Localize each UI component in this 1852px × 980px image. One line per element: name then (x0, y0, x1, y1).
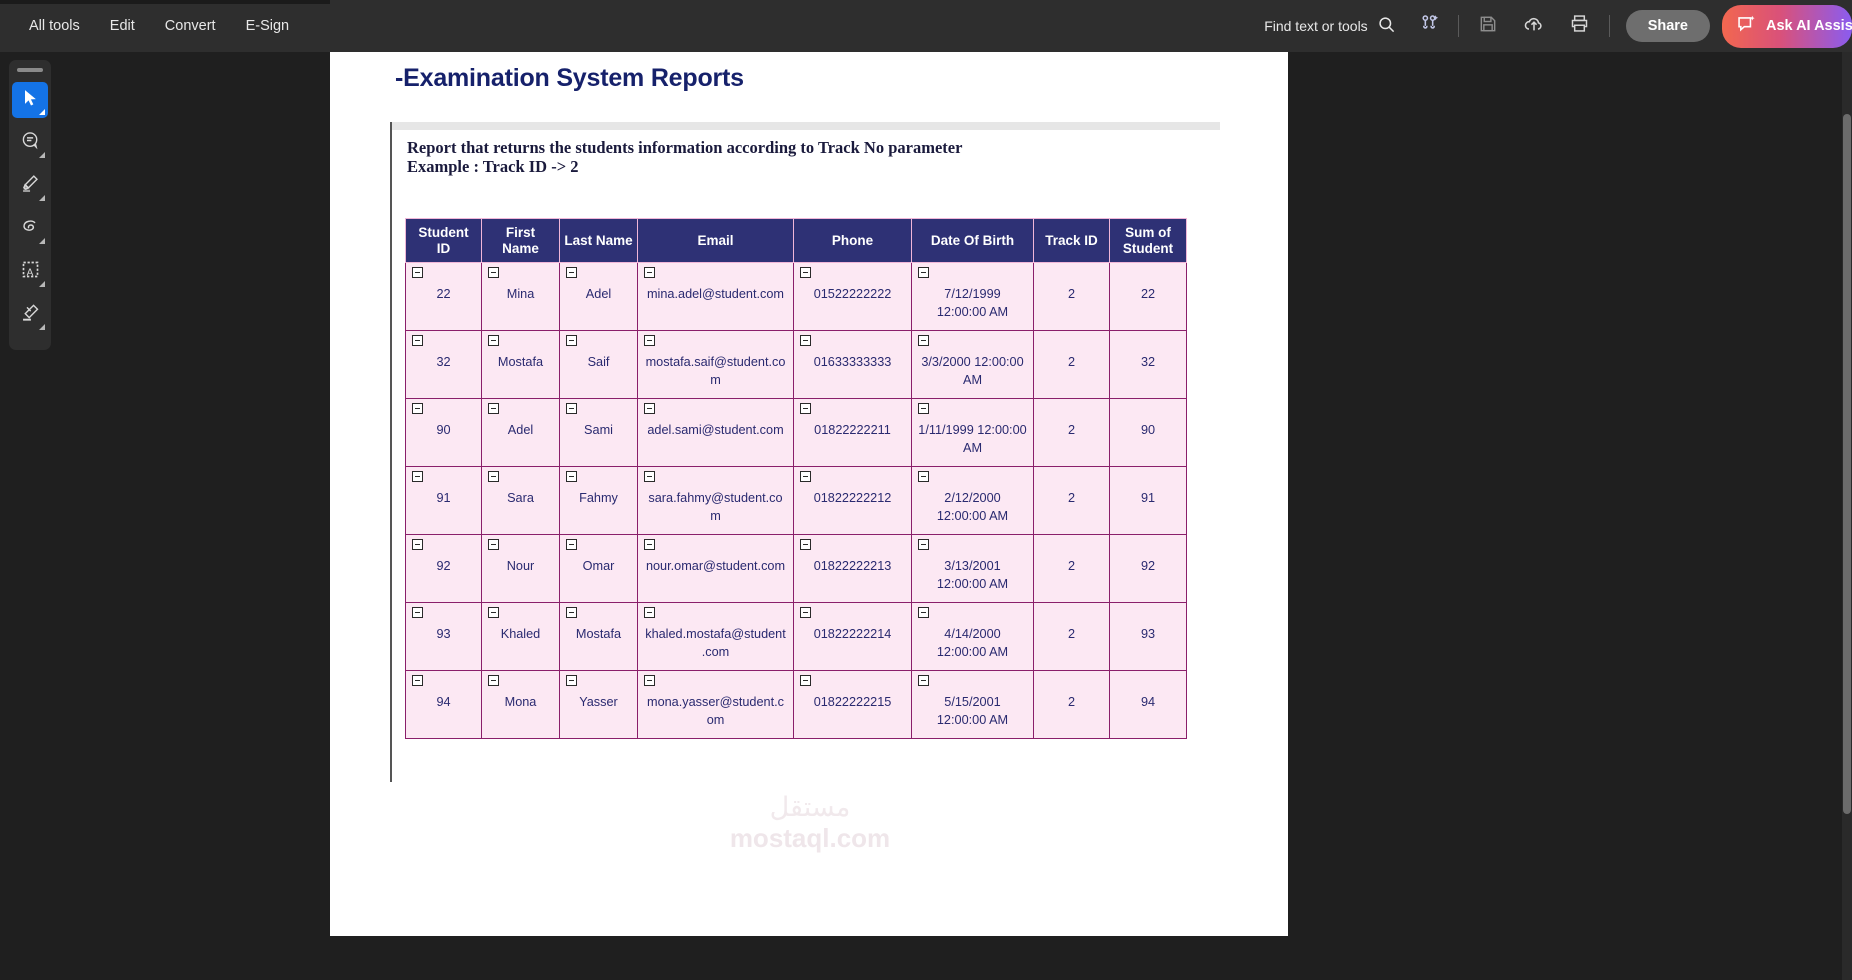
cell-value: 2 (1040, 354, 1103, 372)
comment-tool-expand-icon (39, 152, 45, 158)
collapse-toggle-icon[interactable] (644, 403, 655, 414)
cell-value: 01522222222 (800, 286, 905, 304)
title-dash: - (395, 64, 403, 92)
collapse-toggle-icon[interactable] (644, 267, 655, 278)
left-panel: A (0, 52, 330, 980)
collapse-toggle-icon[interactable] (412, 471, 423, 482)
cell-value: mina.adel@student.com (644, 286, 787, 304)
collapse-toggle-icon[interactable] (800, 539, 811, 550)
collapse-toggle-icon[interactable] (800, 607, 811, 618)
cell-value: Sami (566, 422, 631, 440)
collapse-toggle-icon[interactable] (412, 403, 423, 414)
erase-tool[interactable] (12, 297, 48, 333)
collapse-toggle-icon[interactable] (488, 403, 499, 414)
collapse-toggle-icon[interactable] (566, 675, 577, 686)
cell-value: Khaled (488, 626, 553, 644)
cell-spacer (1040, 539, 1103, 550)
collapse-toggle-icon[interactable] (566, 267, 577, 278)
cell-student-id: 90 (406, 399, 482, 467)
cell-spacer (1116, 675, 1180, 686)
cell-value: 01822222215 (800, 694, 905, 712)
upload-button[interactable] (1511, 6, 1557, 46)
cell-value: 90 (1116, 422, 1180, 440)
save-icon (1478, 14, 1498, 39)
cell-phone: 01822222214 (794, 603, 912, 671)
report-top-band (390, 122, 1220, 130)
cell-value: adel.sami@student.com (644, 422, 787, 440)
window-notch (0, 0, 330, 4)
cell-student-id: 93 (406, 603, 482, 671)
highlight-tool-expand-icon (39, 195, 45, 201)
collapse-toggle-icon[interactable] (412, 675, 423, 686)
cell-value: 2 (1040, 422, 1103, 440)
collapse-toggle-icon[interactable] (566, 471, 577, 482)
toolbar-actions: Find text or tools (1254, 0, 1852, 52)
cell-sum-of-student: 90 (1110, 399, 1187, 467)
document-viewport[interactable]: -Examination System Reports Report that … (330, 52, 1852, 980)
watermark-arabic: مستقل (660, 794, 960, 821)
find-label: Find text or tools (1264, 18, 1368, 34)
cell-value: Mostafa (488, 354, 553, 372)
cell-value: mostafa.saif@student.com (644, 354, 787, 389)
cell-track-id: 2 (1034, 331, 1110, 399)
collapse-toggle-icon[interactable] (918, 471, 929, 482)
collapse-toggle-icon[interactable] (918, 539, 929, 550)
cell-last-name: Mostafa (560, 603, 638, 671)
cell-track-id: 2 (1034, 603, 1110, 671)
cell-last-name: Adel (560, 263, 638, 331)
cell-first-name: Sara (482, 467, 560, 535)
cell-phone: 01822222213 (794, 535, 912, 603)
cell-first-name: Mona (482, 671, 560, 739)
cell-date-of-birth: 2/12/2000 12:00:00 AM (912, 467, 1034, 535)
print-button[interactable] (1557, 6, 1603, 46)
cell-sum-of-student: 22 (1110, 263, 1187, 331)
cell-student-id: 94 (406, 671, 482, 739)
collapse-toggle-icon[interactable] (488, 335, 499, 346)
cell-value: 2 (1040, 490, 1103, 508)
collapse-toggle-icon[interactable] (488, 607, 499, 618)
cell-last-name: Sami (560, 399, 638, 467)
cell-value: 01822222214 (800, 626, 905, 644)
collapse-toggle-icon[interactable] (488, 675, 499, 686)
cell-student-id: 92 (406, 535, 482, 603)
cell-date-of-birth: 4/14/2000 12:00:00 AM (912, 603, 1034, 671)
find-tools-button[interactable]: Find text or tools (1254, 9, 1406, 43)
collapse-toggle-icon[interactable] (644, 471, 655, 482)
cell-date-of-birth: 7/12/1999 12:00:00 AM (912, 263, 1034, 331)
menu-edit[interactable]: Edit (95, 12, 150, 40)
cell-value: 32 (1116, 354, 1180, 372)
cell-value: khaled.mostafa@student.com (644, 626, 787, 661)
cell-value: 2 (1040, 626, 1103, 644)
collapse-toggle-icon[interactable] (566, 335, 577, 346)
cell-value: 92 (1116, 558, 1180, 576)
collapse-toggle-icon[interactable] (918, 675, 929, 686)
cell-value: 3/3/2000 12:00:00 AM (918, 354, 1027, 389)
main-menu: All tools Edit Convert E-Sign (0, 12, 304, 40)
cell-value: 22 (1116, 286, 1180, 304)
column-header-track-id: Track ID (1034, 219, 1110, 263)
cell-sum-of-student: 94 (1110, 671, 1187, 739)
cell-first-name: Nour (482, 535, 560, 603)
collapse-toggle-icon[interactable] (566, 607, 577, 618)
table-body: 22MinaAdelmina.adel@student.com015222222… (406, 263, 1187, 739)
cell-sum-of-student: 93 (1110, 603, 1187, 671)
collapse-toggle-icon[interactable] (800, 675, 811, 686)
erase-tool-expand-icon (39, 324, 45, 330)
accessibility-button[interactable] (1406, 6, 1452, 46)
cell-value: 2 (1040, 558, 1103, 576)
cell-last-name: Saif (560, 331, 638, 399)
svg-text:A: A (27, 268, 34, 279)
text-box-tool-expand-icon (39, 281, 45, 287)
cell-value: 01822222211 (800, 422, 905, 440)
cell-email: adel.sami@student.com (638, 399, 794, 467)
cell-value: Sara (488, 490, 553, 508)
cell-phone: 01822222215 (794, 671, 912, 739)
cell-first-name: Khaled (482, 603, 560, 671)
upload-cloud-icon (1523, 13, 1545, 40)
collapse-toggle-icon[interactable] (412, 335, 423, 346)
cell-value: 94 (1116, 694, 1180, 712)
highlighter-pen-icon (20, 173, 41, 199)
column-header-last-name: Last Name (560, 219, 638, 263)
collapse-toggle-icon[interactable] (918, 607, 929, 618)
table-row: 90AdelSamiadel.sami@student.com018222222… (406, 399, 1187, 467)
column-header-email: Email (638, 219, 794, 263)
cell-value: 2 (1040, 286, 1103, 304)
annotation-toolstrip: A (9, 60, 51, 350)
title-text: Examination System Reports (403, 64, 744, 92)
cell-value: 5/15/2001 12:00:00 AM (918, 694, 1027, 729)
cell-sum-of-student: 92 (1110, 535, 1187, 603)
cell-value: Yasser (566, 694, 631, 712)
cell-value: 1/11/1999 12:00:00 AM (918, 422, 1027, 457)
comment-bubble-icon (20, 130, 41, 156)
toolbar-divider-1 (1458, 15, 1459, 37)
app-toolbar: All tools Edit Convert E-Sign Find text … (0, 0, 1852, 52)
cell-email: sara.fahmy@student.com (638, 467, 794, 535)
cell-spacer (1040, 267, 1103, 278)
cell-date-of-birth: 1/11/1999 12:00:00 AM (912, 399, 1034, 467)
save-button[interactable] (1465, 6, 1511, 46)
cell-spacer (1040, 335, 1103, 346)
cell-value: 91 (1116, 490, 1180, 508)
cell-value: sara.fahmy@student.com (644, 490, 787, 525)
print-icon (1569, 13, 1590, 39)
cell-email: nour.omar@student.com (638, 535, 794, 603)
freehand-loop-icon (19, 216, 41, 243)
collapse-toggle-icon[interactable] (800, 267, 811, 278)
cell-email: mina.adel@student.com (638, 263, 794, 331)
cell-phone: 01522222222 (794, 263, 912, 331)
table-row: 94MonaYassermona.yasser@student.com01822… (406, 671, 1187, 739)
menu-all-tools[interactable]: All tools (14, 12, 95, 40)
cell-spacer (1116, 471, 1180, 482)
cell-track-id: 2 (1034, 467, 1110, 535)
cell-date-of-birth: 5/15/2001 12:00:00 AM (912, 671, 1034, 739)
accessibility-icon (1418, 13, 1440, 40)
draw-tool-expand-icon (39, 238, 45, 244)
column-header-phone: Phone (794, 219, 912, 263)
cell-email: mona.yasser@student.com (638, 671, 794, 739)
cell-value: Mina (488, 286, 553, 304)
collapse-toggle-icon[interactable] (644, 335, 655, 346)
cell-value: 92 (412, 558, 475, 576)
cell-value: 2 (1040, 694, 1103, 712)
collapse-toggle-icon[interactable] (644, 675, 655, 686)
cell-email: mostafa.saif@student.com (638, 331, 794, 399)
cell-value: 2/12/2000 12:00:00 AM (918, 490, 1027, 525)
ai-sparkle-icon (1736, 14, 1757, 39)
draw-tool[interactable] (12, 211, 48, 247)
select-tool[interactable] (12, 82, 48, 118)
cell-value: 22 (412, 286, 475, 304)
column-header-first-name: First Name (482, 219, 560, 263)
menu-esign[interactable]: E-Sign (231, 12, 305, 40)
column-header-student-id: Student ID (406, 219, 482, 263)
cell-value: Saif (566, 354, 631, 372)
cell-spacer (1116, 607, 1180, 618)
students-report-table: Student ID First Name Last Name Email Ph… (405, 218, 1187, 739)
cell-value: 01822222212 (800, 490, 905, 508)
collapse-toggle-icon[interactable] (918, 403, 929, 414)
cell-value: Fahmy (566, 490, 631, 508)
collapse-toggle-icon[interactable] (918, 335, 929, 346)
collapse-toggle-icon[interactable] (412, 607, 423, 618)
cell-track-id: 2 (1034, 263, 1110, 331)
select-tool-expand-icon (39, 109, 45, 115)
cell-spacer (1040, 675, 1103, 686)
cell-track-id: 2 (1034, 399, 1110, 467)
collapse-toggle-icon[interactable] (800, 403, 811, 414)
cell-spacer (1116, 403, 1180, 414)
cell-value: 93 (412, 626, 475, 644)
collapse-toggle-icon[interactable] (488, 471, 499, 482)
cell-value: 01633333333 (800, 354, 905, 372)
cell-last-name: Fahmy (560, 467, 638, 535)
cell-date-of-birth: 3/13/2001 12:00:00 AM (912, 535, 1034, 603)
collapse-toggle-icon[interactable] (800, 471, 811, 482)
cell-spacer (1040, 607, 1103, 618)
cell-spacer (1116, 335, 1180, 346)
report-description-line2: Example : Track ID -> 2 (407, 157, 962, 176)
cell-first-name: Mostafa (482, 331, 560, 399)
table-row: 32MostafaSaifmostafa.saif@student.com016… (406, 331, 1187, 399)
cell-phone: 01822222212 (794, 467, 912, 535)
cell-value: 32 (412, 354, 475, 372)
report-left-rule (390, 122, 392, 782)
cell-value: mona.yasser@student.com (644, 694, 787, 729)
collapse-toggle-icon[interactable] (644, 539, 655, 550)
page-title: -Examination System Reports (395, 64, 744, 93)
cell-value: Mostafa (566, 626, 631, 644)
cell-value: 7/12/1999 12:00:00 AM (918, 286, 1027, 321)
cell-value: 91 (412, 490, 475, 508)
document-scrollbar-thumb[interactable] (1843, 114, 1851, 814)
cell-spacer (1040, 471, 1103, 482)
text-box-tool[interactable]: A (12, 254, 48, 290)
table-header-row: Student ID First Name Last Name Email Ph… (406, 219, 1187, 263)
collapse-toggle-icon[interactable] (566, 403, 577, 414)
watermark-latin: mostaql.com (660, 823, 960, 854)
cell-student-id: 91 (406, 467, 482, 535)
cell-value: 94 (412, 694, 475, 712)
cell-student-id: 22 (406, 263, 482, 331)
cell-first-name: Mina (482, 263, 560, 331)
cell-sum-of-student: 32 (1110, 331, 1187, 399)
table-row: 92NourOmarnour.omar@student.com018222222… (406, 535, 1187, 603)
cell-track-id: 2 (1034, 671, 1110, 739)
text-box-a-icon: A (20, 259, 41, 285)
collapse-toggle-icon[interactable] (412, 539, 423, 550)
cell-value: 90 (412, 422, 475, 440)
cell-value: Adel (566, 286, 631, 304)
cell-last-name: Yasser (560, 671, 638, 739)
collapse-toggle-icon[interactable] (488, 267, 499, 278)
pdf-page: -Examination System Reports Report that … (330, 52, 1288, 936)
toolstrip-drag-handle[interactable] (17, 68, 43, 72)
cell-value: nour.omar@student.com (644, 558, 787, 576)
cell-sum-of-student: 91 (1110, 467, 1187, 535)
collapse-toggle-icon[interactable] (644, 607, 655, 618)
toolbar-divider-2 (1609, 15, 1610, 37)
highlight-tool[interactable] (12, 168, 48, 204)
cell-value: Adel (488, 422, 553, 440)
column-header-sum-of-student: Sum of Student (1110, 219, 1187, 263)
cell-phone: 01822222211 (794, 399, 912, 467)
cell-track-id: 2 (1034, 535, 1110, 603)
column-header-date-of-birth: Date Of Birth (912, 219, 1034, 263)
table-row: 22MinaAdelmina.adel@student.com015222222… (406, 263, 1187, 331)
cell-last-name: Omar (560, 535, 638, 603)
cursor-arrow-icon (20, 88, 40, 113)
collapse-toggle-icon[interactable] (488, 539, 499, 550)
table-row: 93KhaledMostafakhaled.mostafa@student.co… (406, 603, 1187, 671)
eraser-icon (20, 302, 41, 328)
cell-value: 01822222213 (800, 558, 905, 576)
cell-value: Mona (488, 694, 553, 712)
collapse-toggle-icon[interactable] (918, 267, 929, 278)
ask-ai-assistant-button[interactable]: Ask AI Assis (1722, 5, 1852, 48)
cell-spacer (1116, 539, 1180, 550)
menu-convert[interactable]: Convert (150, 12, 231, 40)
cell-student-id: 32 (406, 331, 482, 399)
cell-value: Omar (566, 558, 631, 576)
cell-value: Nour (488, 558, 553, 576)
collapse-toggle-icon[interactable] (412, 267, 423, 278)
cell-phone: 01633333333 (794, 331, 912, 399)
cell-first-name: Adel (482, 399, 560, 467)
cell-value: 4/14/2000 12:00:00 AM (918, 626, 1027, 661)
collapse-toggle-icon[interactable] (800, 335, 811, 346)
report-description: Report that returns the students informa… (407, 138, 962, 177)
report-description-line1: Report that returns the students informa… (407, 138, 962, 157)
comment-tool[interactable] (12, 125, 48, 161)
cell-spacer (1116, 267, 1180, 278)
collapse-toggle-icon[interactable] (566, 539, 577, 550)
search-icon (1377, 15, 1396, 37)
table-row: 91SaraFahmysara.fahmy@student.com0182222… (406, 467, 1187, 535)
watermark: مستقل mostaql.com (660, 794, 960, 854)
document-scrollbar-track[interactable] (1842, 52, 1852, 980)
cell-spacer (1040, 403, 1103, 414)
cell-date-of-birth: 3/3/2000 12:00:00 AM (912, 331, 1034, 399)
cell-value: 93 (1116, 626, 1180, 644)
cell-email: khaled.mostafa@student.com (638, 603, 794, 671)
share-button[interactable]: Share (1626, 10, 1710, 42)
ask-ai-label: Ask AI Assis (1766, 18, 1852, 34)
cell-value: 3/13/2001 12:00:00 AM (918, 558, 1027, 593)
